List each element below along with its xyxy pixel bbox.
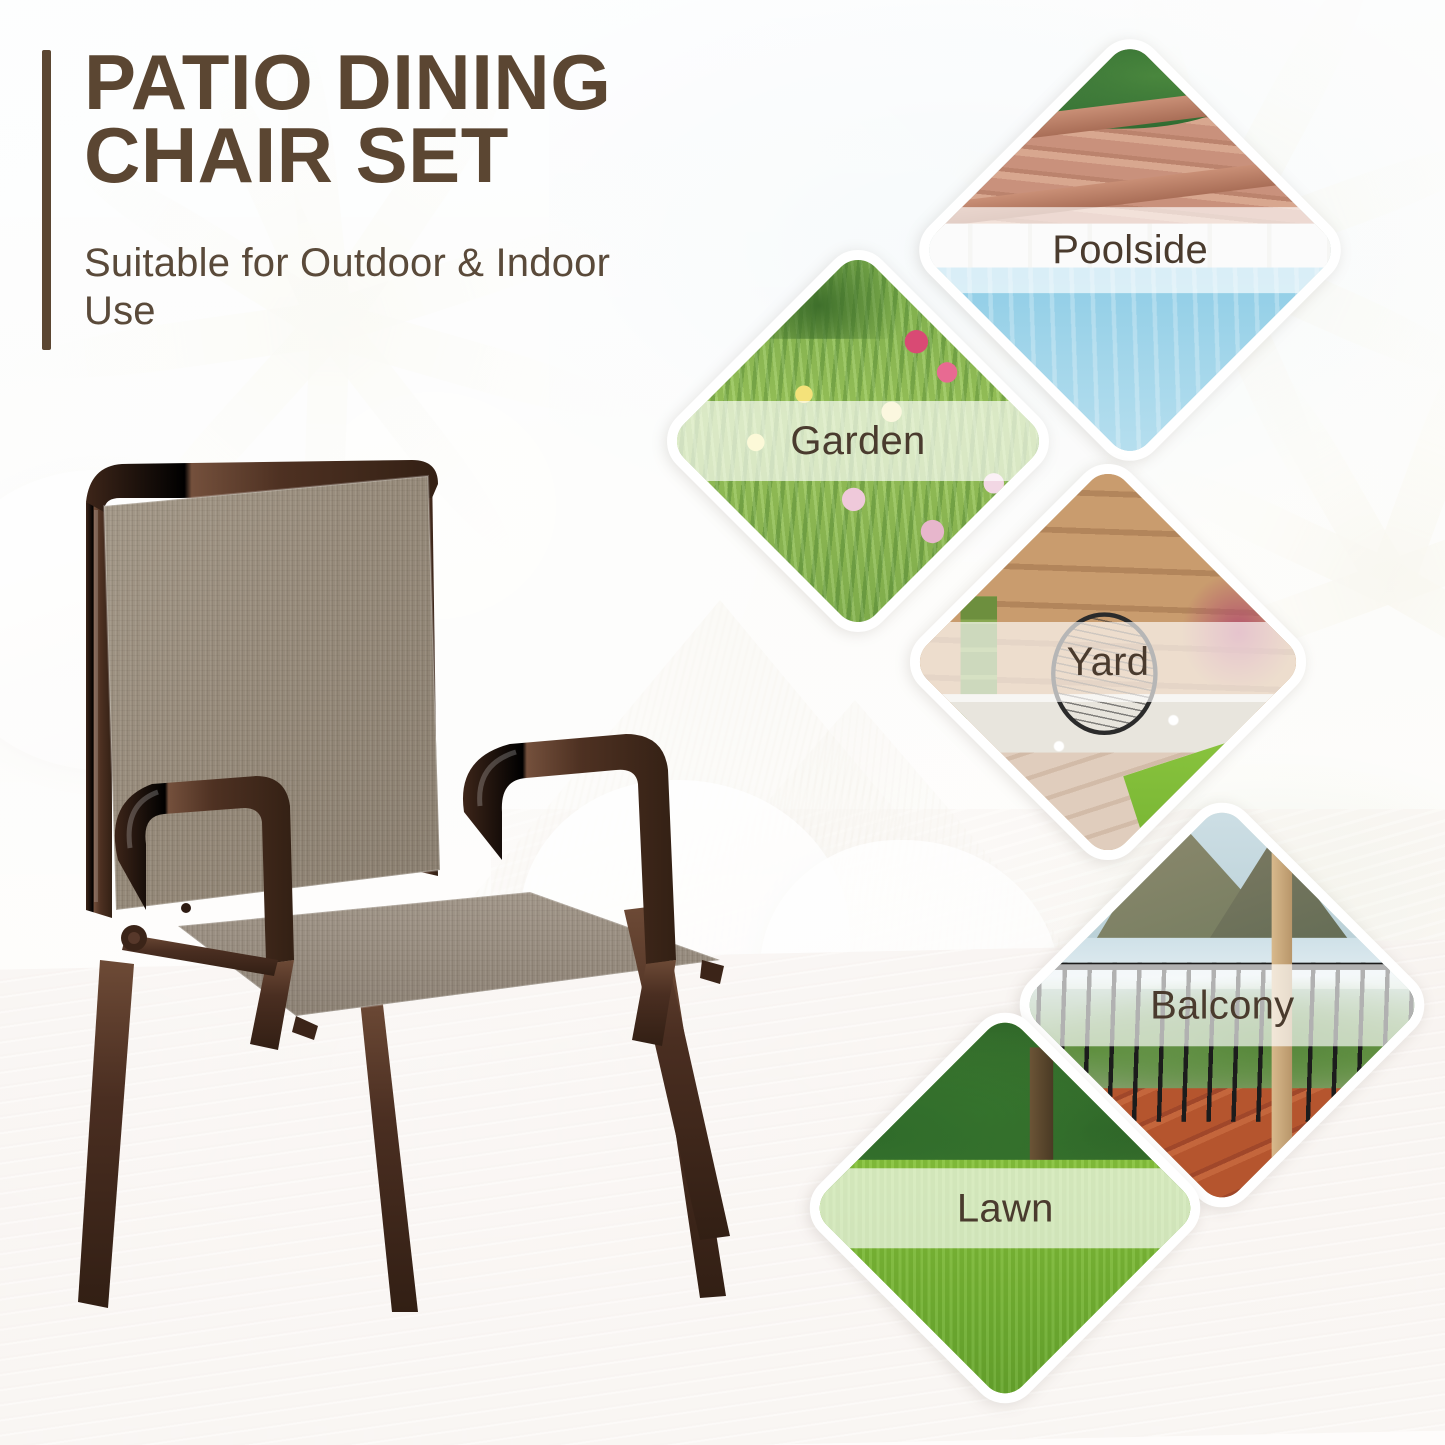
yard-label-band: Yard (896, 622, 1320, 702)
product-infographic: PATIO DINING CHAIR SET Suitable for Outd… (0, 0, 1445, 1445)
garden-label-band: Garden (653, 401, 1063, 481)
usage-label-lawn: Lawn (957, 1186, 1054, 1231)
accent-bar (42, 50, 51, 350)
page-title: PATIO DINING CHAIR SET (84, 46, 682, 193)
poolside-label-band: Poolside (905, 207, 1355, 293)
usage-label-poolside: Poolside (1052, 228, 1208, 273)
page-title-line-2: CHAIR SET (84, 119, 682, 192)
lawn-label-band: Lawn (796, 1168, 1215, 1248)
balcony-label-band: Balcony (1006, 964, 1439, 1046)
usage-label-garden: Garden (790, 419, 925, 464)
product-image-chair (60, 440, 760, 1320)
header-block: PATIO DINING CHAIR SET Suitable for Outd… (42, 46, 682, 335)
usage-label-balcony: Balcony (1150, 983, 1294, 1028)
usage-label-yard: Yard (1067, 640, 1150, 685)
page-subtitle: Suitable for Outdoor & Indoor Use (84, 239, 682, 335)
